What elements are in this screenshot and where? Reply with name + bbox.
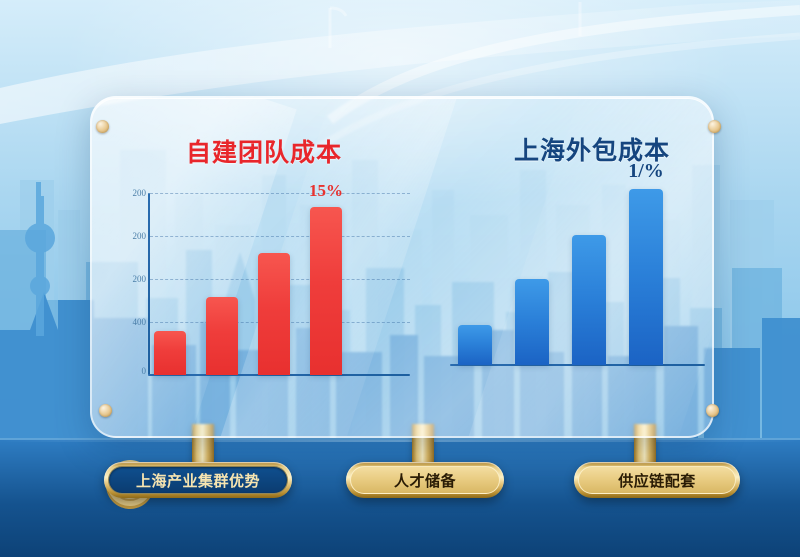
bar-red-3 [258,253,290,375]
bar-blue-4: 1/% [629,189,663,365]
y-tick-label-2: 200 [114,274,146,284]
chart-self-built-team-cost: 200 200 200 400 0 15% [120,185,410,385]
bar-blue-1 [458,325,492,365]
screw-bottom-left [99,404,112,417]
bar-blue-3 [572,235,606,365]
label-button-industry-cluster[interactable]: 上海产业集群优势 [104,462,292,498]
y-tick-label-3: 200 [114,231,146,241]
label-button-supply-chain-text: 供应链配套 [578,466,736,494]
label-button-supply-chain[interactable]: 供应链配套 [574,462,740,498]
bar-annotation-1-percent: 1/% [628,160,664,183]
bars-left: 15% [154,195,342,375]
bar-red-1 [154,331,186,375]
bar-blue-2 [515,279,549,365]
y-tick-label-1: 400 [114,317,146,327]
screw-top-left [96,120,109,133]
label-button-talent-reserve-text: 人才储备 [350,466,500,494]
bars-right: 1/% [458,185,663,365]
screw-top-right [708,120,721,133]
poster-stage: 自建团队成本 上海外包成本 200 200 200 400 0 15% [0,0,800,557]
label-button-talent-reserve[interactable]: 人才储备 [346,462,504,498]
bar-red-2 [206,297,238,375]
bar-red-4: 15% [310,207,342,375]
chart-title-left: 自建团队成本 [186,133,342,169]
ground-highlight [0,440,800,442]
screw-bottom-right [706,404,719,417]
y-tick-label-0: 0 [114,366,146,376]
y-axis-left [148,193,150,375]
bar-annotation-15-percent: 15% [309,181,343,201]
gridline-4 [150,193,410,194]
label-button-industry-cluster-text: 上海产业集群优势 [108,466,288,494]
chart-shanghai-outsourcing-cost: 1/% [450,175,705,375]
y-tick-label-4: 200 [114,188,146,198]
